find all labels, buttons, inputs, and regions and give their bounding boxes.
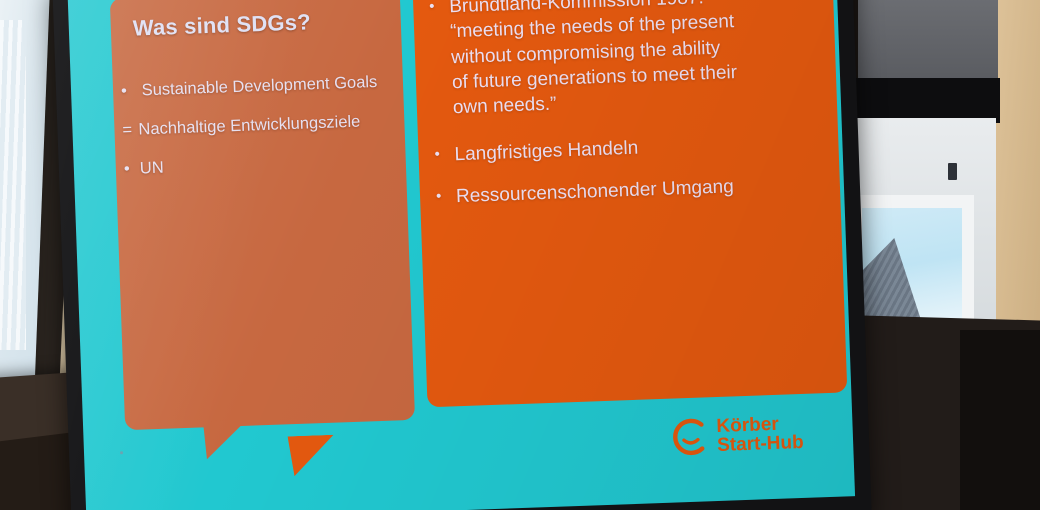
wall-switch bbox=[948, 163, 957, 180]
bezel-reflection bbox=[52, 0, 872, 510]
left-window-blinds bbox=[0, 20, 26, 350]
right-furniture-2 bbox=[960, 330, 1040, 510]
photo-scene: Was sind SDGs? • Sustainable Development… bbox=[0, 0, 1040, 510]
presentation-display: Was sind SDGs? • Sustainable Development… bbox=[52, 0, 872, 510]
right-soffit bbox=[855, 78, 1000, 123]
right-ceiling bbox=[858, 0, 998, 80]
